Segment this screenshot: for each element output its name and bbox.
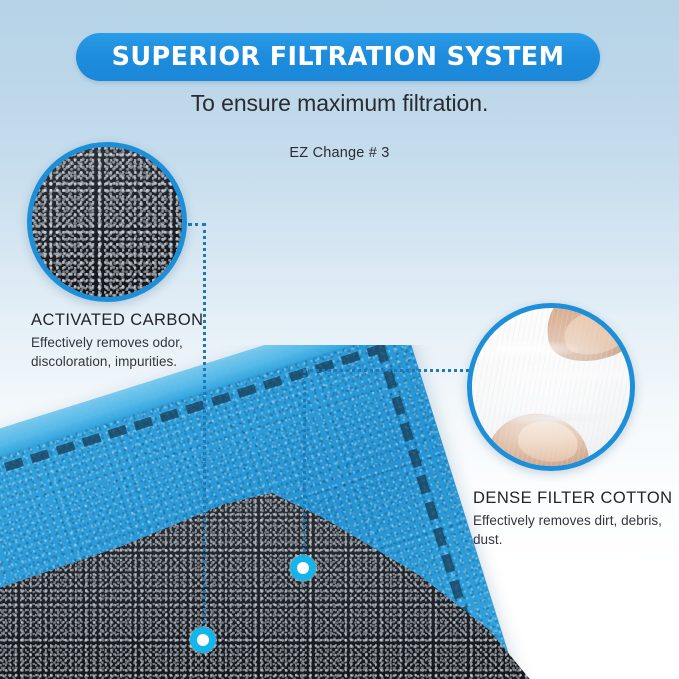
callout-desc-dense-filter-cotton: Effectively removes dirt, debris, dust. <box>473 511 673 549</box>
page-title: SUPERIOR FILTRATION SYSTEM <box>112 42 565 72</box>
lens-activated-carbon <box>27 142 187 302</box>
cotton-fibre-texture <box>472 308 630 466</box>
product-infographic: SUPERIOR FILTRATION SYSTEM To ensure max… <box>0 0 679 679</box>
page-subtitle: To ensure maximum filtration. <box>0 90 679 117</box>
connector-cotton-horizontal <box>303 369 469 372</box>
connector-carbon-vertical <box>203 223 206 635</box>
marker-carbon-layer <box>190 627 216 653</box>
title-badge: SUPERIOR FILTRATION SYSTEM <box>76 33 600 81</box>
connector-cotton-vertical <box>303 370 306 563</box>
lens-dense-filter-cotton <box>467 303 635 471</box>
callout-desc-activated-carbon: Effectively removes odor, discoloration,… <box>31 333 251 371</box>
callout-title-dense-filter-cotton: DENSE FILTER COTTON <box>473 489 673 508</box>
callout-title-activated-carbon: ACTIVATED CARBON <box>31 311 204 330</box>
marker-cotton-layer <box>290 555 316 581</box>
